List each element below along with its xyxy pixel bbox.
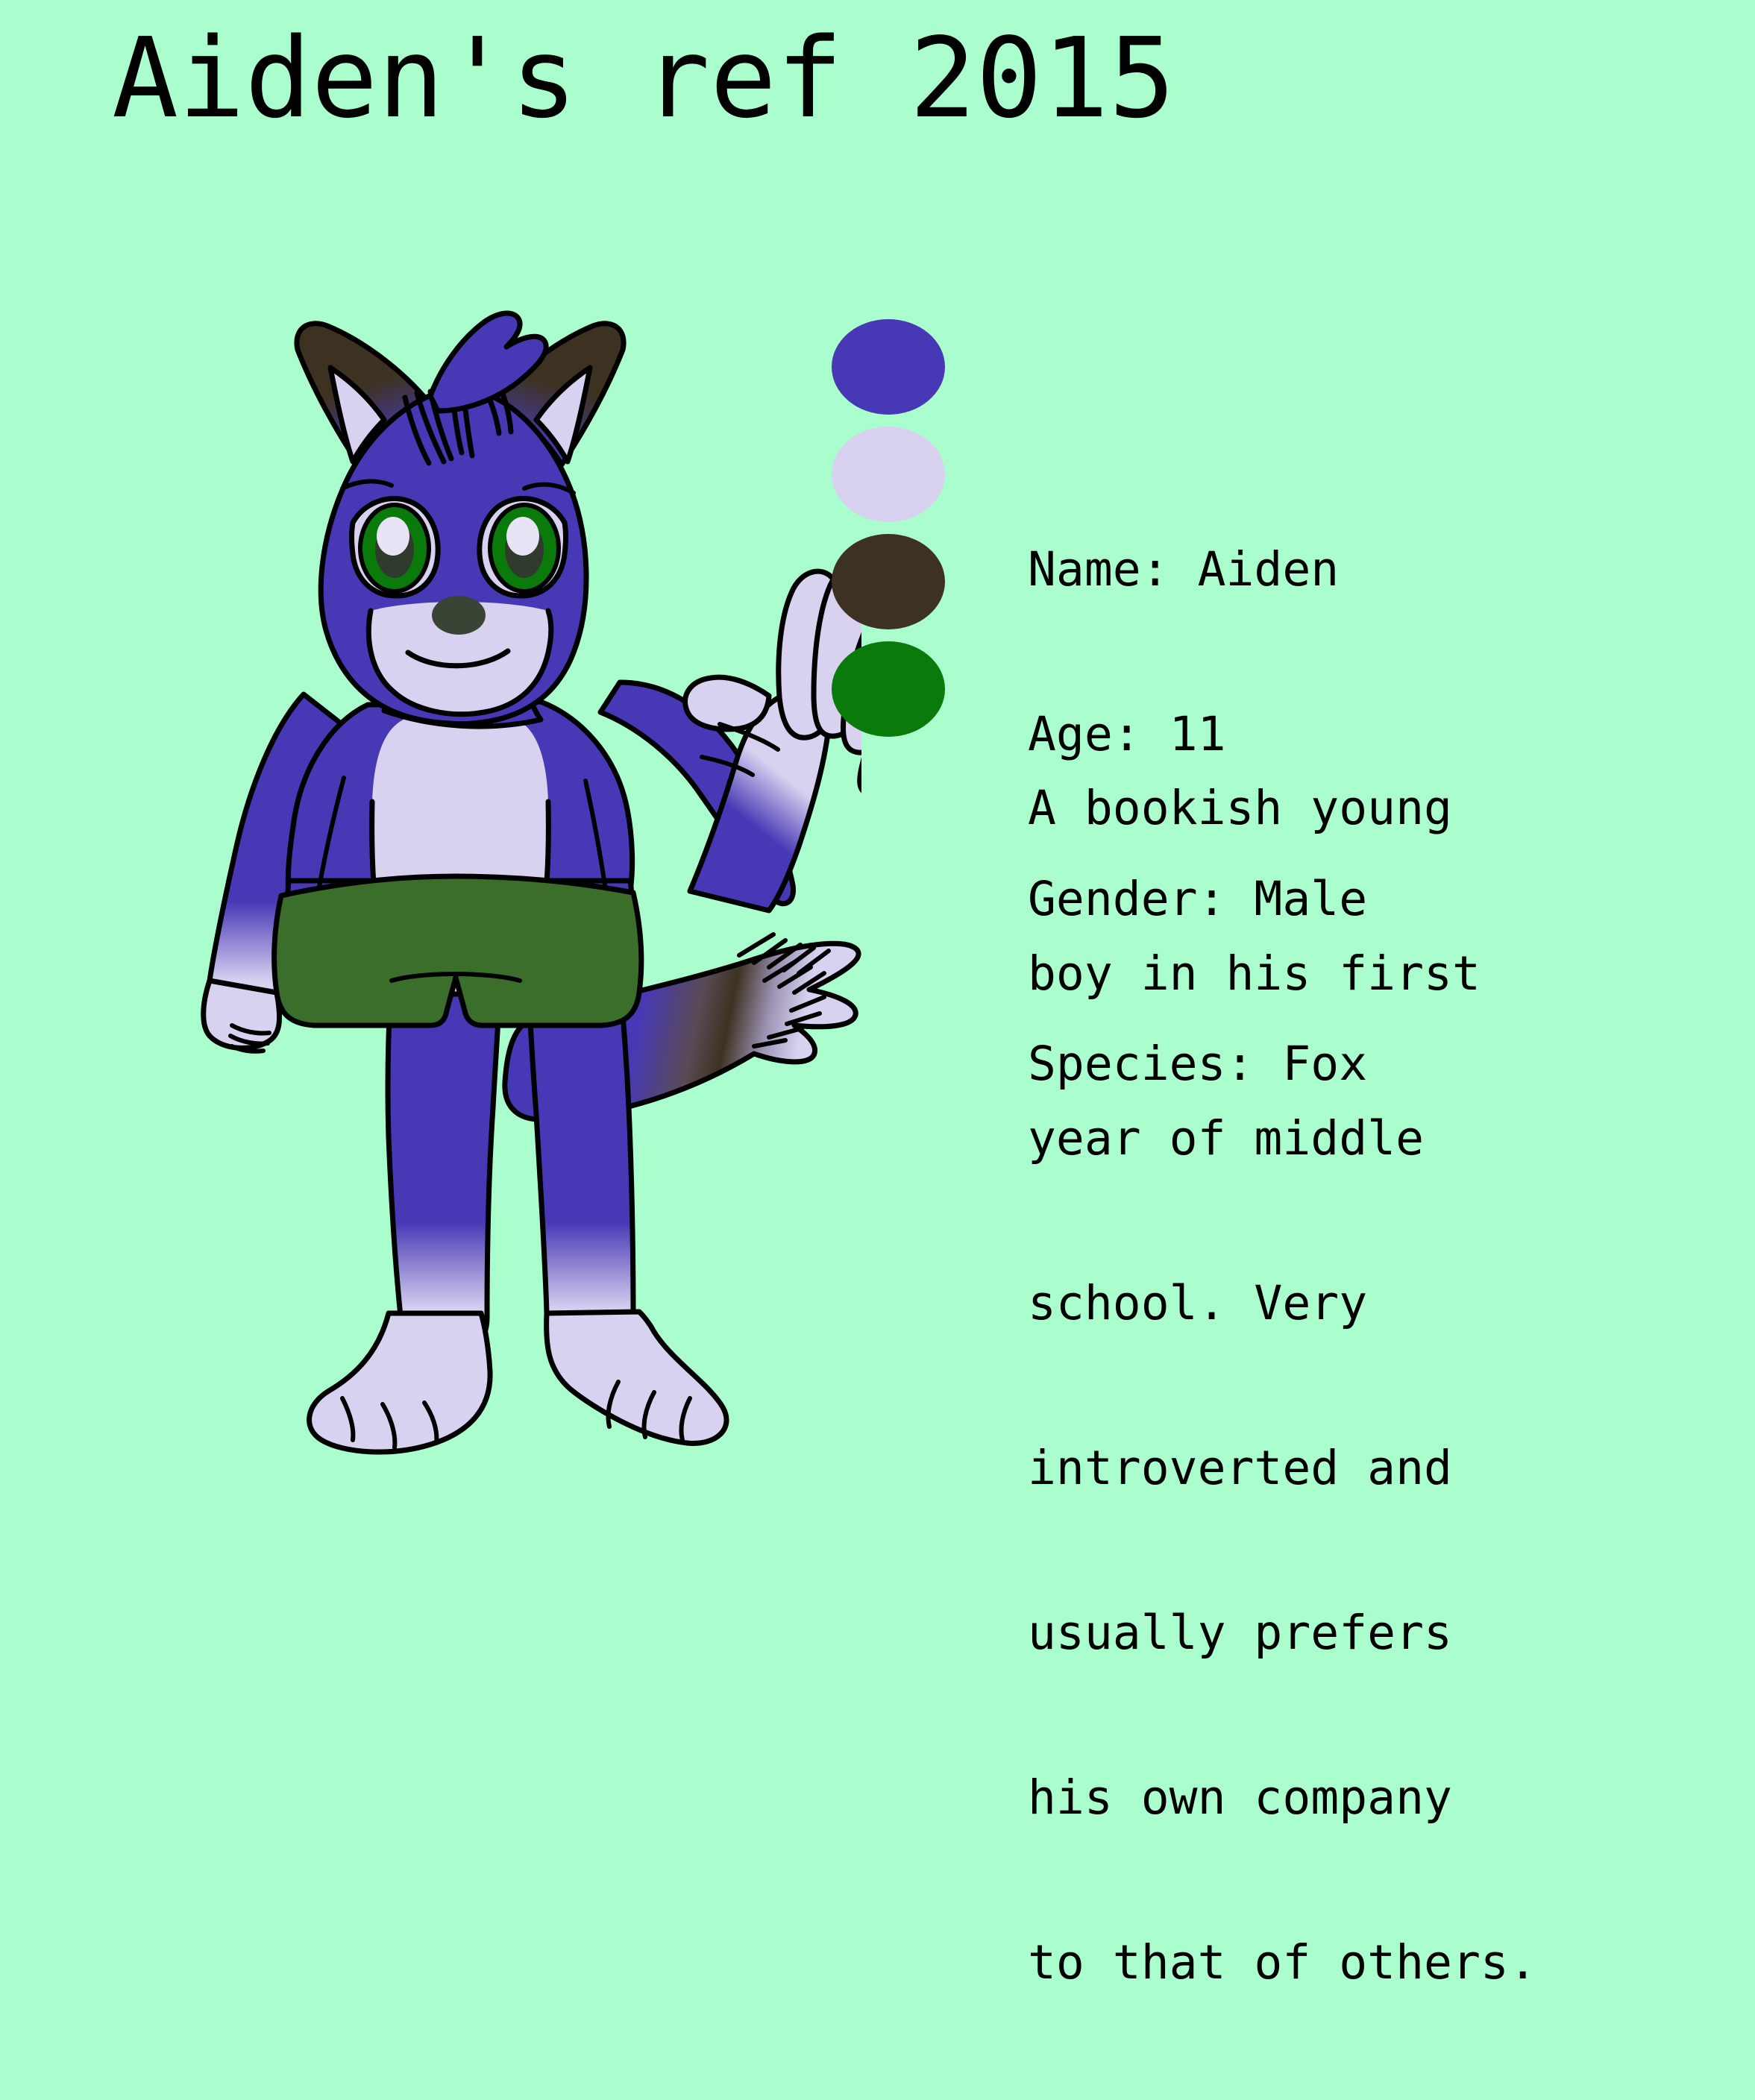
character-head — [297, 313, 624, 724]
swatch-primary-fur-blue — [832, 319, 945, 415]
description-line: his own company — [1028, 1770, 1684, 1826]
character-illustration — [168, 280, 861, 1518]
character-description: A bookish young boy in his first year of… — [1028, 671, 1684, 2100]
swatch-eye-green — [832, 641, 945, 737]
description-line: usually prefers — [1028, 1606, 1684, 1661]
description-line: A bookish young — [1028, 781, 1684, 836]
page-title: Aiden's ref 2015 — [112, 21, 1175, 136]
description-line: year of middle — [1028, 1111, 1684, 1166]
description-line: boy in his first — [1028, 946, 1684, 1002]
color-palette — [832, 319, 951, 737]
character-right-arm-waving — [600, 567, 861, 911]
description-line: to that of others. — [1028, 1935, 1684, 1990]
reference-sheet-canvas: Aiden's ref 2015 — [0, 0, 1755, 1522]
stat-line-name: Name: Aiden — [1028, 542, 1699, 597]
swatch-accent-fur-brown — [832, 534, 945, 629]
description-line: introverted and — [1028, 1441, 1684, 1496]
swatch-secondary-fur-lavender — [832, 427, 945, 522]
description-line: school. Very — [1028, 1276, 1684, 1331]
